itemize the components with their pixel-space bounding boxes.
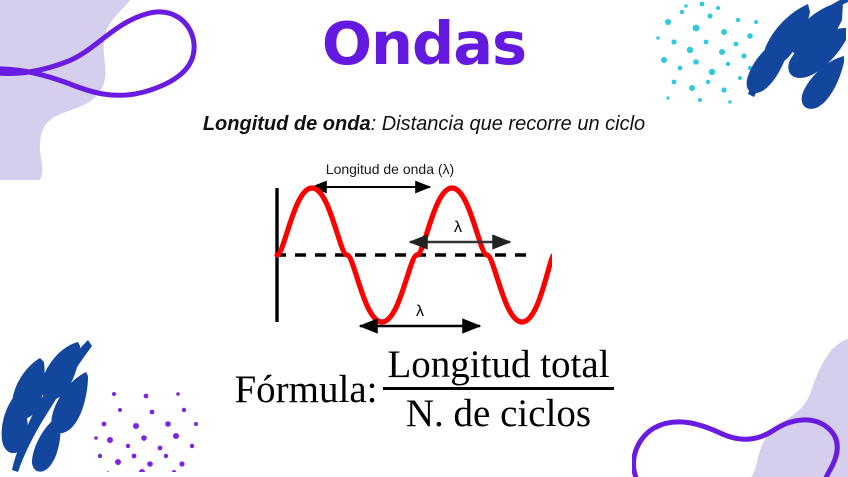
diagram-caption: Longitud de onda (λ) xyxy=(326,161,454,177)
formula-numerator: Longitud total xyxy=(383,344,613,386)
subtitle-text: Distancia que recorre un ciclo xyxy=(376,113,645,135)
wavelength-diagram: Longitud de onda (λ) λ λ xyxy=(262,156,552,336)
lambda-label-middle: λ xyxy=(454,219,462,236)
subtitle-definition: Longitud de onda: Distancia que recorre … xyxy=(0,112,848,136)
formula-label: Fórmula: xyxy=(234,369,383,410)
subtitle-term: Longitud de onda xyxy=(203,113,371,135)
formula-fraction: Longitud total N. de ciclos xyxy=(383,344,613,435)
formula-fraction-bar xyxy=(383,387,613,390)
formula-denominator: N. de ciclos xyxy=(383,392,613,434)
page-title: Ondas xyxy=(0,14,848,73)
lambda-label-bottom: λ xyxy=(416,303,424,320)
slide-canvas: Ondas Longitud de onda: Distancia que re… xyxy=(0,0,848,477)
formula-block: Fórmula: Longitud total N. de ciclos xyxy=(0,344,848,435)
